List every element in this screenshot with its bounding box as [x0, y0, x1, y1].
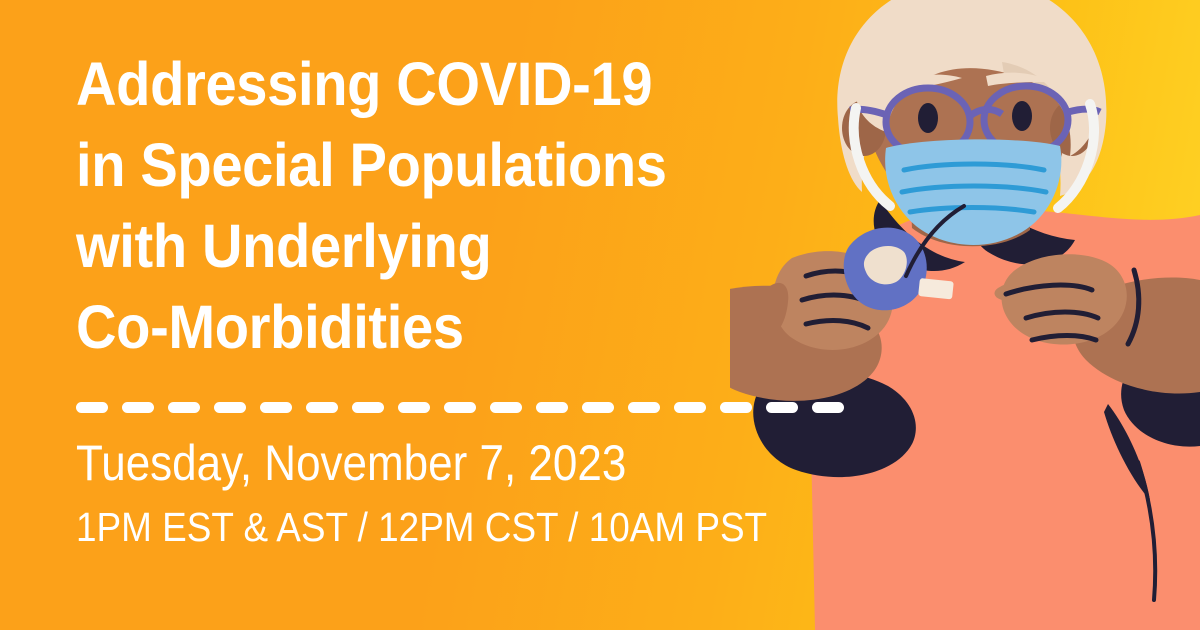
dashed-divider	[76, 402, 956, 413]
event-time: 1PM EST & AST / 12PM CST / 10AM PST	[76, 501, 868, 553]
divider-dash	[168, 402, 200, 413]
divider-dash	[536, 402, 568, 413]
divider-dash	[306, 402, 338, 413]
divider-dash	[398, 402, 430, 413]
divider-dash	[766, 402, 798, 413]
headline-line-2: in Special Populations	[76, 125, 886, 206]
headline-line-3: with Underlying	[76, 206, 886, 287]
headline-line-4: Co-Morbidities	[76, 287, 886, 368]
event-date: Tuesday, November 7, 2023	[76, 433, 850, 493]
text-block: Addressing COVID-19 in Special Populatio…	[76, 44, 956, 553]
divider-dash	[490, 402, 522, 413]
divider-dash	[812, 402, 844, 413]
divider-dash	[674, 402, 706, 413]
headline: Addressing COVID-19 in Special Populatio…	[76, 44, 956, 368]
divider-dash	[628, 402, 660, 413]
divider-dash	[720, 402, 752, 413]
divider-dash	[582, 402, 614, 413]
divider-dash	[214, 402, 246, 413]
divider-dash	[352, 402, 384, 413]
divider-dash	[76, 402, 108, 413]
divider-dash	[260, 402, 292, 413]
headline-line-1: Addressing COVID-19	[76, 44, 886, 125]
webinar-promo-banner: Addressing COVID-19 in Special Populatio…	[0, 0, 1200, 630]
hand-right	[1002, 254, 1127, 344]
divider-dash	[122, 402, 154, 413]
divider-dash	[444, 402, 476, 413]
eye-right	[1012, 101, 1032, 131]
